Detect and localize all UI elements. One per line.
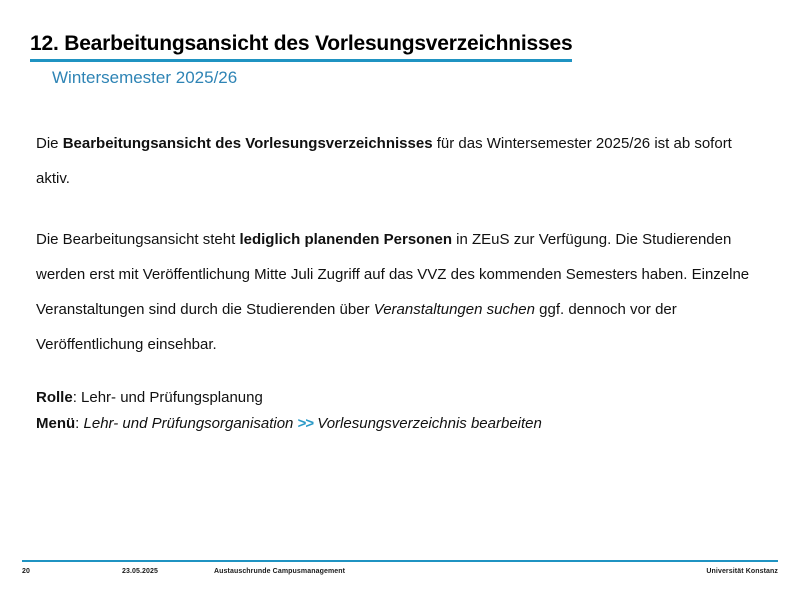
chevron-double-right-icon: >> xyxy=(298,415,314,432)
footer-divider xyxy=(22,560,778,562)
page-title: 12. Bearbeitungsansicht des Vorlesungsve… xyxy=(30,32,572,62)
footer-event-name: Austauschrunde Campusmanagement xyxy=(214,568,345,575)
role-separator: : xyxy=(73,389,81,406)
menu-separator: : xyxy=(75,415,83,432)
footer-date: 23.05.2025 xyxy=(122,568,158,575)
menu-path-segment-1: Lehr- und Prüfungsorganisation xyxy=(84,415,294,432)
paragraph2-bold-term: lediglich planenden Personen xyxy=(239,231,452,248)
paragraph1-bold-term: Bearbeitungsansicht des Vorlesungsverzei… xyxy=(63,135,433,152)
role-value: Lehr- und Prüfungsplanung xyxy=(81,389,263,406)
role-label: Rolle xyxy=(36,389,73,406)
footer-page-number: 20 xyxy=(22,568,30,575)
slide-metadata: Rolle: Lehr- und Prüfungsplanung Menü: L… xyxy=(36,385,766,437)
paragraph1-text-part1: Die xyxy=(36,135,63,152)
slide-body: Die Bearbeitungsansicht des Vorlesungsve… xyxy=(36,126,766,362)
menu-path-segment-2: Vorlesungsverzeichnis bearbeiten xyxy=(317,415,542,432)
slide-header: 12. Bearbeitungsansicht des Vorlesungsve… xyxy=(30,32,760,88)
role-line: Rolle: Lehr- und Prüfungsplanung xyxy=(36,385,766,411)
footer: 20 23.05.2025 Austauschrunde Campusmanag… xyxy=(22,568,778,582)
menu-label: Menü xyxy=(36,415,75,432)
paragraph-announcement: Die Bearbeitungsansicht des Vorlesungsve… xyxy=(36,126,766,196)
paragraph2-italic-menu-reference: Veranstaltungen suchen xyxy=(374,301,535,318)
footer-organization: Universität Konstanz xyxy=(706,568,778,575)
presentation-slide: 12. Bearbeitungsansicht des Vorlesungsve… xyxy=(0,0,800,600)
slide-subtitle: Wintersemester 2025/26 xyxy=(52,68,760,88)
paragraph2-text-part1: Die Bearbeitungsansicht steht xyxy=(36,231,239,248)
paragraph-access-info: Die Bearbeitungsansicht steht lediglich … xyxy=(36,222,766,362)
menu-path-line: Menü: Lehr- und Prüfungsorganisation >> … xyxy=(36,411,766,437)
